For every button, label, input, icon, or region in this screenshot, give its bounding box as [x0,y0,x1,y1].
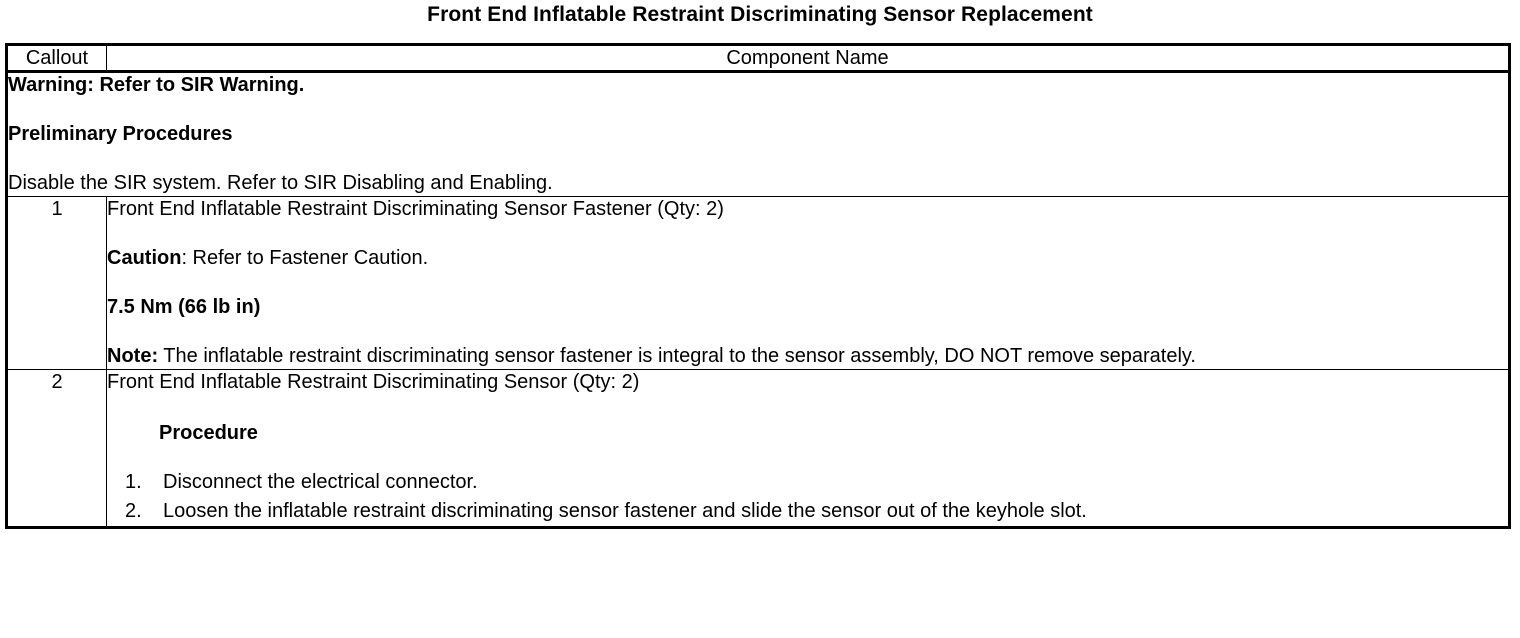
list-item: 2.Loosen the inflatable restraint discri… [107,497,1508,526]
service-procedure-table-wrapper: Callout Component Name Warning: Refer to… [5,43,1510,529]
list-item: 1.Disconnect the electrical connector. [107,468,1508,497]
table-row: 1 Front End Inflatable Restraint Discrim… [7,197,1510,370]
document-page: Front End Inflatable Restraint Discrimin… [0,0,1520,638]
service-procedure-table: Callout Component Name Warning: Refer to… [5,43,1511,529]
component-title-1: Front End Inflatable Restraint Discrimin… [107,197,1508,222]
component-title-2: Front End Inflatable Restraint Discrimin… [107,370,1508,395]
step-number: 1. [125,468,157,497]
table-row: 2 Front End Inflatable Restraint Discrim… [7,370,1510,528]
preliminary-procedures-heading: Preliminary Procedures [8,122,1508,147]
caution-text: : Refer to Fastener Caution. [181,247,428,269]
warning-text: Refer to SIR Warning. [94,74,304,96]
preliminary-procedures-text: Disable the SIR system. Refer to SIR Dis… [8,171,1508,196]
preamble-cell: Warning: Refer to SIR Warning. Prelimina… [7,72,1510,197]
caution-block-1: Caution: Refer to Fastener Caution. [107,246,1508,271]
caution-label: Caution [107,247,181,269]
page-title: Front End Inflatable Restraint Discrimin… [0,2,1520,28]
column-header-callout: Callout [7,45,107,72]
procedure-step-list: 1.Disconnect the electrical connector. 2… [107,468,1508,526]
warning-block: Warning: Refer to SIR Warning. [8,73,1508,98]
table-body: Warning: Refer to SIR Warning. Prelimina… [7,72,1510,528]
note-label: Note: [107,345,158,367]
callout-number-1: 1 [7,197,107,370]
table-row-preamble: Warning: Refer to SIR Warning. Prelimina… [7,72,1510,197]
table-header-row: Callout Component Name [7,45,1510,72]
note-text: The inflatable restraint discriminating … [158,345,1196,367]
component-cell-2: Front End Inflatable Restraint Discrimin… [107,370,1510,528]
torque-spec-1: 7.5 Nm (66 lb in) [107,295,1508,320]
component-cell-1: Front End Inflatable Restraint Discrimin… [107,197,1510,370]
callout-number-2: 2 [7,370,107,528]
table-header: Callout Component Name [7,45,1510,72]
note-block-1: Note: The inflatable restraint discrimin… [107,344,1508,369]
procedure-heading-2: Procedure [159,421,1508,446]
step-text: Disconnect the electrical connector. [163,471,478,493]
step-number: 2. [125,497,157,526]
column-header-component-name: Component Name [107,45,1510,72]
warning-label: Warning: [8,74,94,96]
step-text: Loosen the inflatable restraint discrimi… [163,500,1087,522]
